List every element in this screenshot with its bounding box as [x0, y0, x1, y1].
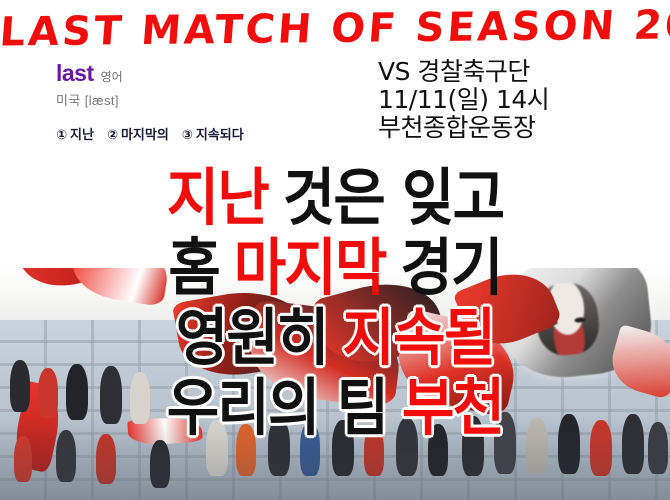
dictionary-sense: ③지속되다	[182, 124, 244, 143]
headline-segment: 영원히	[176, 301, 328, 374]
headline-line: 홈마지막경기	[27, 233, 643, 303]
dictionary-headword-row: last 영어	[56, 60, 244, 87]
match-datetime: 11/11(일) 14시	[378, 86, 549, 114]
match-info: VS 경찰축구단 11/11(일) 14시 부천종합운동장	[378, 58, 549, 142]
headline-segment: 경기	[400, 231, 501, 304]
sense-number: ③	[182, 127, 193, 142]
match-poster: LAST MATCH OF SEASON 2018 last 영어 미국 [læ…	[0, 0, 670, 500]
match-opponent: VS 경찰축구단	[378, 58, 549, 86]
sense-number: ①	[56, 127, 67, 142]
sense-text: 지난	[70, 127, 94, 142]
dictionary-headword: last	[56, 60, 94, 87]
headline-segment: 홈	[168, 231, 219, 304]
dictionary-language-label: 영어	[101, 68, 123, 85]
sense-number: ②	[107, 127, 118, 142]
match-venue: 부천종합운동장	[378, 114, 549, 142]
headline-segment: 것은 잊고	[283, 161, 504, 234]
headline: 지난것은 잊고홈마지막경기영원히지속될우리의 팀부천	[0, 163, 670, 443]
dictionary-entry: last 영어 미국 [læst] ①지난 ②마지막의 ③지속되다	[56, 60, 244, 143]
dictionary-sense: ①지난	[56, 124, 94, 143]
poster-title: LAST MATCH OF SEASON 2018	[0, 2, 670, 55]
headline-segment: 지난	[167, 161, 268, 234]
headline-segment: 지속될	[342, 301, 494, 374]
sense-text: 지속되다	[196, 127, 244, 142]
dictionary-sense: ②마지막의	[107, 124, 169, 143]
headline-line: 우리의 팀부천	[27, 373, 643, 443]
headline-segment: 마지막	[234, 231, 386, 304]
dictionary-senses: ①지난 ②마지막의 ③지속되다	[56, 124, 244, 143]
headline-segment: 우리의 팀	[167, 371, 388, 444]
headline-line: 영원히지속될	[27, 303, 643, 373]
headline-segment: 부천	[402, 371, 503, 444]
sense-text: 마지막의	[121, 127, 169, 142]
headline-line: 지난것은 잊고	[27, 163, 643, 233]
dictionary-pronunciation: 미국 [læst]	[56, 90, 244, 109]
